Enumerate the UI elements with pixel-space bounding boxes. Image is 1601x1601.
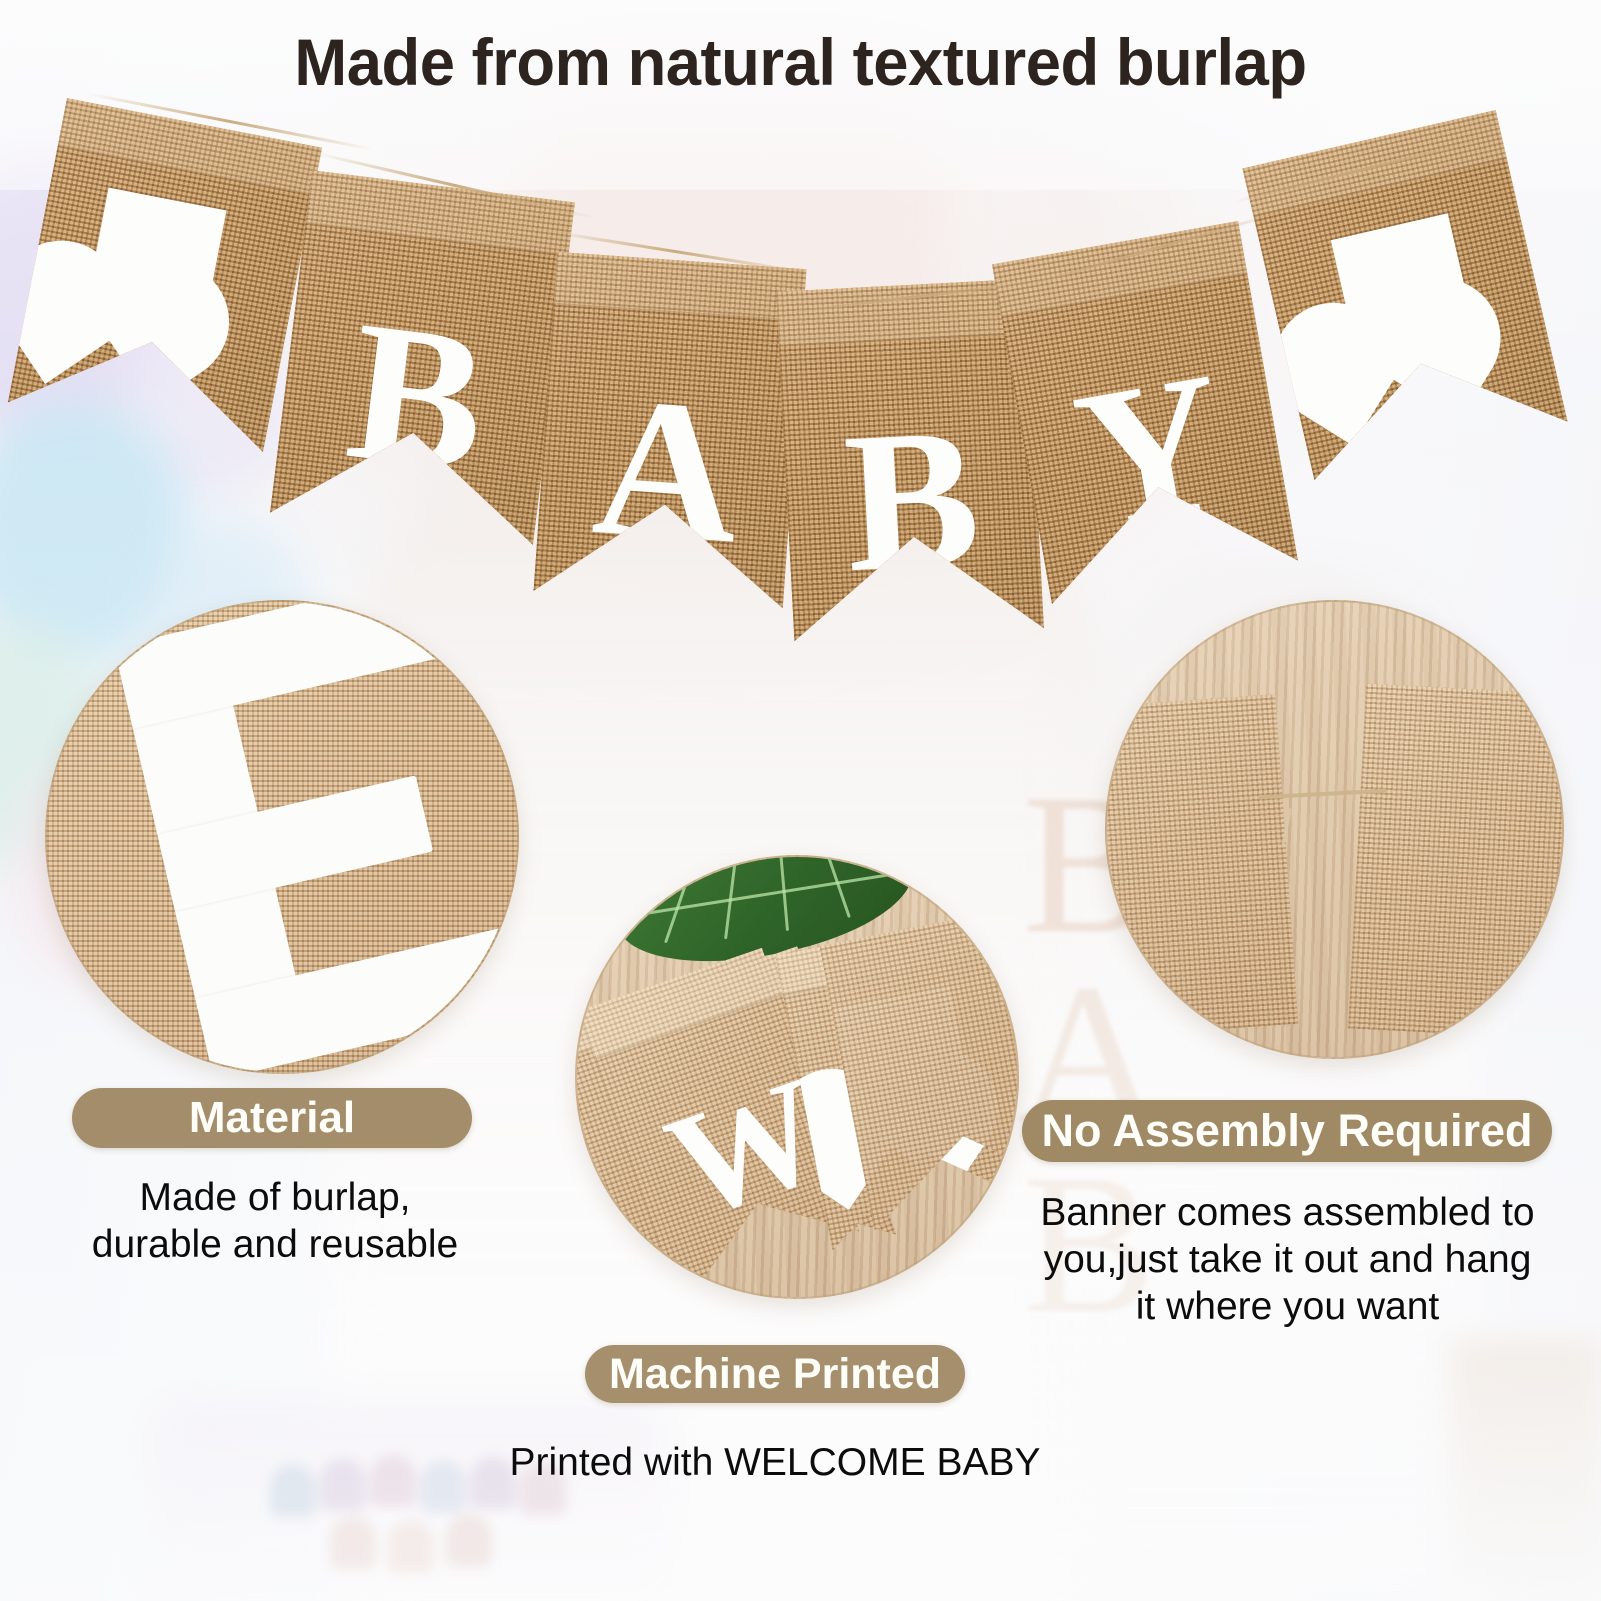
flag-hem bbox=[1242, 110, 1507, 217]
feature-pill-machine-printed: Machine Printed bbox=[585, 1345, 965, 1403]
pennant-flag-letter-a: A bbox=[533, 252, 806, 609]
heart-icon bbox=[86, 188, 227, 329]
pennant-flag-heart-left bbox=[8, 98, 322, 452]
burlap-pennant-banner: B A B Y bbox=[0, 100, 1601, 620]
pennant-flag-letter-b2: B bbox=[776, 279, 1044, 642]
macro-letter-e bbox=[45, 600, 519, 1074]
flag-letter: B bbox=[265, 170, 575, 584]
feature-pill-no-assembly: No Assembly Required bbox=[1022, 1100, 1552, 1162]
feature-photo-no-assembly bbox=[1105, 600, 1564, 1059]
assembled-flag-left bbox=[1105, 694, 1298, 1039]
pennant-flag-letter-b1: B bbox=[270, 170, 575, 545]
flag-letter: A bbox=[531, 252, 807, 649]
feature-photo-material bbox=[45, 600, 519, 1074]
assembled-flag-right bbox=[1348, 684, 1564, 1042]
feature-caption-material: Made of burlap, durable and reusable bbox=[30, 1175, 520, 1269]
page-title: Made from natural textured burlap bbox=[32, 24, 1569, 100]
feature-caption-machine-printed: Printed with WELCOME BABY bbox=[420, 1440, 1130, 1487]
pennant-flag-heart-right bbox=[1242, 110, 1567, 480]
feature-caption-no-assembly: Banner comes assembled to you,just take … bbox=[995, 1190, 1580, 1330]
feature-photo-machine-printed: W bbox=[575, 855, 1019, 1299]
heart-icon bbox=[1331, 213, 1475, 357]
feature-pill-material: Material bbox=[72, 1088, 472, 1148]
